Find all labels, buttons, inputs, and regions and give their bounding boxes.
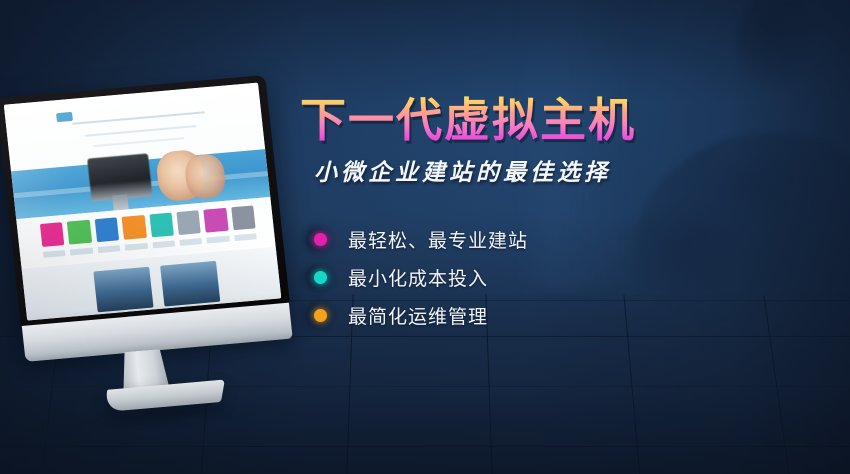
- list-item-label: 最轻松、最专业建站: [348, 226, 528, 253]
- bullet-dot-teal: [306, 266, 329, 289]
- hosting-promo-banner: 下一代虚拟主机 小微企业建站的最佳选择 最轻松、最专业建站 最小化成本投入 最简…: [0, 0, 850, 474]
- website-icon: [40, 222, 65, 248]
- bullet-dot-orange: [306, 304, 329, 327]
- monitor-screen: [4, 83, 282, 321]
- list-item-label: 最小化成本投入: [348, 264, 488, 291]
- website-icon: [122, 214, 147, 240]
- website-icon: [67, 219, 92, 245]
- website-icon: [204, 207, 229, 233]
- website-thumbnail: [160, 260, 220, 306]
- list-item: 最简化运维管理: [306, 296, 720, 334]
- website-icon: [176, 210, 201, 236]
- list-item: 最小化成本投入: [306, 258, 720, 296]
- website-logo: [56, 112, 73, 122]
- website-icon: [149, 212, 174, 238]
- website-icon: [94, 217, 119, 243]
- desktop-monitor: [0, 75, 290, 327]
- feature-list: 最轻松、最专业建站 最小化成本投入 最简化运维管理: [306, 220, 720, 334]
- bullet-dot-core: [314, 233, 327, 246]
- bullet-dot-core: [314, 309, 327, 322]
- page-title: 下一代虚拟主机: [300, 96, 720, 145]
- list-item: 最轻松、最专业建站: [306, 220, 720, 258]
- promo-copy: 下一代虚拟主机 小微企业建站的最佳选择 最轻松、最专业建站 最小化成本投入 最简…: [300, 96, 720, 334]
- list-item-label: 最简化运维管理: [348, 302, 488, 329]
- monitor-bezel: [0, 75, 290, 327]
- bullet-dot-core: [314, 271, 327, 284]
- website-thumbnail: [94, 266, 154, 312]
- page-subtitle: 小微企业建站的最佳选择: [314, 159, 720, 187]
- bullet-dot-magenta: [306, 228, 329, 251]
- website-icon: [231, 205, 256, 231]
